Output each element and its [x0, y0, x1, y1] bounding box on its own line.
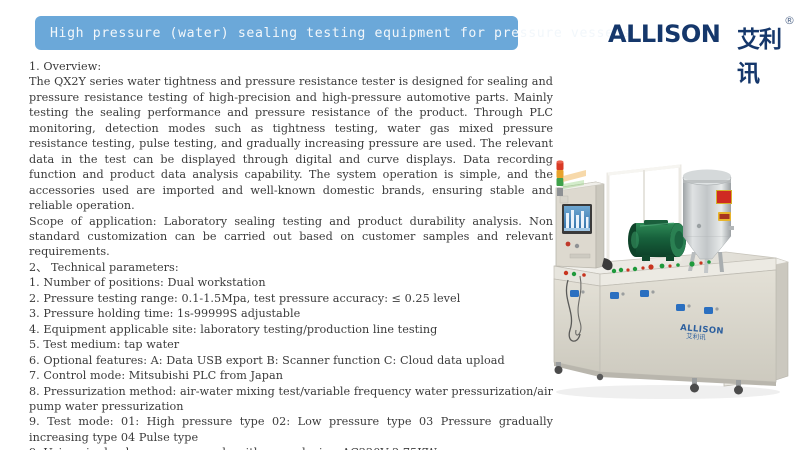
- page-title-banner: High pressure (water) sealing testing eq…: [35, 16, 518, 50]
- tech-param-item: 4. Equipment applicable site: laboratory…: [29, 322, 553, 337]
- indicator-lamp-red: [641, 266, 644, 269]
- tech-param-item: 1. Number of positions: Dual workstation: [29, 275, 553, 290]
- product-spec-page: High pressure (water) sealing testing eq…: [0, 0, 800, 450]
- nameplate-label: [570, 254, 590, 258]
- vessel-outlet-pipe: [728, 226, 734, 230]
- tech-param-item: 9. Test mode: 01: High pressure type 02:…: [29, 414, 553, 445]
- indicator-lamp-red: [626, 268, 629, 271]
- indicator-lamp-green: [707, 260, 711, 264]
- side-label: [560, 196, 568, 203]
- brand-logo-cjk: 艾利讯: [737, 20, 796, 88]
- overview-paragraph-2: Scope of application: Laboratory sealing…: [29, 214, 553, 260]
- tech-param-item: 8. Pressurization method: air-water mixi…: [29, 384, 553, 415]
- indicator-lamp-green: [660, 264, 665, 269]
- indicator-lamp-green: [612, 269, 616, 273]
- cabinet-brand-cjk: 艾利讯: [686, 331, 707, 342]
- indicator-lamp-red: [582, 273, 586, 277]
- indicator-lamp-green: [689, 261, 694, 266]
- vessel-gauge-port: [697, 224, 701, 228]
- green-pressure-accumulator: [628, 220, 686, 261]
- indicator-lamp-green: [619, 268, 623, 272]
- overview-paragraph-1: The QX2Y series water tightness and pres…: [29, 74, 553, 213]
- tower-lamp-amber: [557, 170, 564, 178]
- selector-switch[interactable]: [575, 244, 579, 248]
- tech-param-item: 2. Pressure testing range: 0.1-1.5Mpa, t…: [29, 291, 553, 306]
- brand-logo: ALLISON 艾利讯 ®: [606, 14, 796, 50]
- tech-param-item: 3. Pressure holding time: 1s-99999S adju…: [29, 306, 553, 321]
- indicator-lamp-green: [676, 263, 680, 267]
- tech-params-heading: 2、 Technical parameters:: [29, 260, 553, 275]
- control-cabinet: [554, 252, 776, 386]
- indicator-lamp-green: [572, 272, 576, 276]
- tech-param-item: 9. Using single-phase power supply with …: [29, 445, 553, 450]
- page-title: High pressure (water) sealing testing eq…: [35, 26, 631, 41]
- tech-param-item: 6. Optional features: A: Data USB export…: [29, 353, 553, 368]
- tech-param-item: 7. Control mode: Mitsubishi PLC from Jap…: [29, 368, 553, 383]
- indicator-lamp-red: [668, 264, 671, 267]
- brand-logo-latin: ALLISON: [608, 20, 720, 48]
- tower-lamp-green: [557, 178, 564, 186]
- tech-param-item: 5. Test medium: tap water: [29, 337, 553, 352]
- emergency-stop-button[interactable]: [566, 242, 571, 247]
- floor-shadow: [556, 385, 780, 399]
- accumulator-feet: [642, 255, 650, 261]
- hmi-pillar: [556, 182, 604, 268]
- overview-heading: 1. Overview:: [29, 59, 553, 74]
- specification-text: 1. Overview: The QX2Y series water tight…: [29, 59, 553, 450]
- indicator-lamp-green: [633, 267, 637, 271]
- indicator-lamp-red: [564, 271, 568, 275]
- registered-trademark-icon: ®: [784, 14, 795, 27]
- indicator-lamp-red: [648, 264, 653, 269]
- equipment-photo: ALLISON 艾利讯: [540, 140, 800, 410]
- indicator-lamp-red: [699, 261, 702, 264]
